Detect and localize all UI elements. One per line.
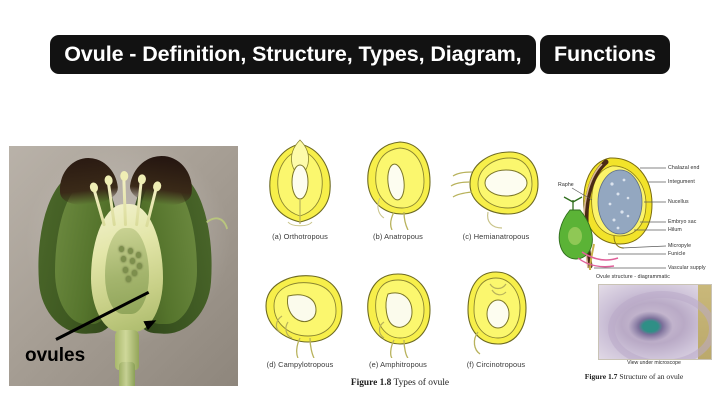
figure-1-7-caption: Figure 1.7 Structure of an ovule: [548, 372, 720, 381]
figure-1-8-caption-number: Figure 1.8: [351, 378, 391, 388]
anatropous-icon: [350, 138, 446, 230]
dissected-flower-photo: ovules: [9, 146, 238, 386]
ovule-type-circinotropous: (f) Circinotropous: [446, 266, 546, 378]
ovule-types-row-2: (d) Campylotropous (e) Amphitropous: [250, 266, 550, 378]
figure-1-7-caption-text: Structure of an ovule: [617, 372, 683, 381]
orthotropous-icon: [252, 138, 348, 230]
figure-1-7-structure-of-an-ovule: Raphe Chalazal end Integument Nucellus E…: [548, 140, 720, 400]
ovule-structure-diagrammatic-caption: Ovule structure - diagrammatic: [596, 274, 670, 280]
label-chalazal-end: Chalazal end: [668, 165, 699, 171]
ovule-type-label: (e) Amphitropous: [348, 360, 448, 369]
label-embryo-sac: Embryo sac: [668, 219, 696, 225]
label-micropyle: Micropyle: [668, 243, 691, 249]
page-title-line-1: Ovule - Definition, Structure, Types, Di…: [50, 35, 535, 74]
ovule-micrograph-image: [598, 284, 712, 360]
ovule-type-label: (c) Hemianatropous: [446, 232, 546, 241]
ovule-types-row-1: (a) Orthotropous (b) Anatropous: [250, 138, 550, 250]
ovule-type-anatropous: (b) Anatropous: [348, 138, 448, 250]
ovule-type-orthotropous: (a) Orthotropous: [250, 138, 350, 250]
ovule-type-label: (f) Circinotropous: [446, 360, 546, 369]
ovule-type-amphitropous: (e) Amphitropous: [348, 266, 448, 378]
campylotropous-icon: [252, 266, 348, 358]
figure-1-8-caption: Figure 1.8 Types of ovule: [250, 378, 550, 388]
label-integument: Integument: [668, 179, 695, 185]
amphitropous-icon: [350, 266, 446, 358]
hemianatropous-icon: [448, 138, 544, 230]
page-title-line-2: Functions: [540, 35, 670, 74]
ovule-type-hemianatropous: (c) Hemianatropous: [446, 138, 546, 250]
flower-bud-illustration: [31, 154, 221, 354]
figure-1-8-caption-text: Types of ovule: [391, 378, 449, 388]
pedicel-lower: [119, 362, 135, 386]
label-raphe: Raphe: [558, 182, 574, 188]
page-root: Ovule - Definition, Structure, Types, Di…: [0, 0, 720, 404]
ovules-cluster: [117, 246, 143, 282]
page-title: Ovule - Definition, Structure, Types, Di…: [0, 34, 720, 74]
circinotropous-icon: [448, 266, 544, 358]
ovule-type-campylotropous: (d) Campylotropous: [250, 266, 350, 378]
label-vascular-supply: Vascular supply: [668, 265, 706, 271]
label-nucellus: Nucellus: [668, 199, 689, 205]
ovule-structure-diagram: [548, 140, 720, 272]
ovule-type-label: (a) Orthotropous: [250, 232, 350, 241]
label-hilum: Hilum: [668, 227, 682, 233]
micrograph-edge-strip: [698, 285, 711, 359]
figure-1-7-caption-number: Figure 1.7: [585, 372, 618, 381]
label-funicle: Funicle: [668, 251, 685, 257]
ovule-type-label: (b) Anatropous: [348, 232, 448, 241]
ovule-type-label: (d) Campylotropous: [250, 360, 350, 369]
micrograph-caption: View under microscope: [598, 360, 710, 366]
stamen-3: [122, 178, 127, 226]
figure-1-8-types-of-ovule: (a) Orthotropous (b) Anatropous: [250, 138, 550, 400]
ovules-annotation-label: ovules: [25, 345, 85, 367]
